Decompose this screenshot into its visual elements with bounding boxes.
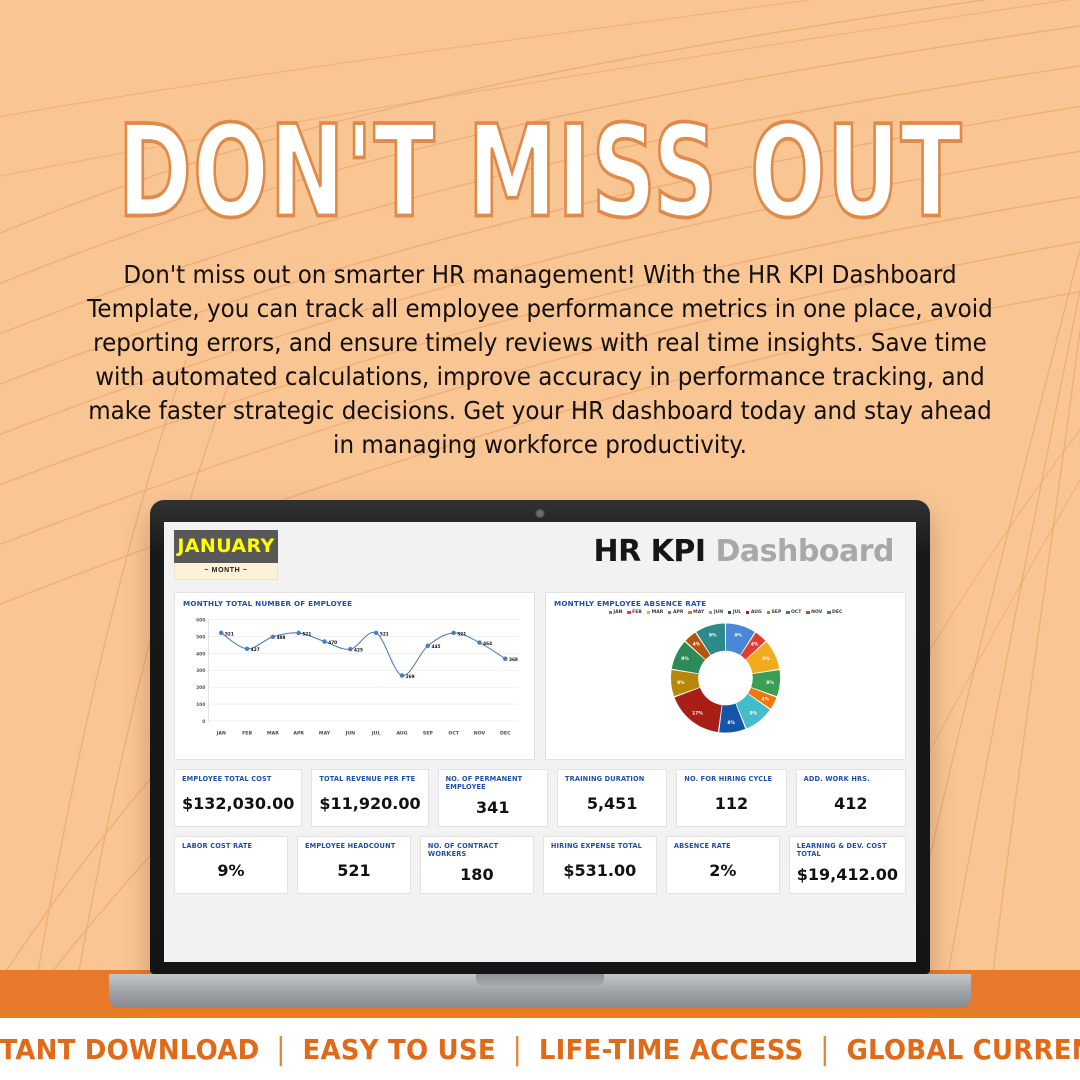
legend-label: APR (673, 610, 683, 615)
legend-item: SEP (767, 610, 782, 615)
dashboard-header: JANUARY ~ MONTH ~ HR KPI Dashboard (174, 530, 906, 586)
svg-text:100: 100 (196, 702, 205, 708)
legend-label: JUN (714, 610, 723, 615)
legend-item: NOV (806, 610, 822, 615)
kpi-row-bottom: LABOR COST RATE9%EMPLOYEE HEADCOUNT521NO… (174, 836, 906, 894)
svg-text:498: 498 (277, 635, 286, 641)
svg-text:FEB: FEB (242, 731, 252, 737)
footer-item: INSTANT DOWNLOAD (0, 1033, 276, 1066)
donut-chart-svg: 9%4%9%8%4%9%8%17%8%9%4%9% (554, 616, 897, 744)
kpi-card-label: HIRING EXPENSE TOTAL (551, 842, 649, 850)
svg-text:JAN: JAN (216, 731, 226, 737)
donut-slice-label: 9% (762, 656, 770, 662)
donut-slice-label: 8% (677, 680, 685, 686)
legend-swatch (806, 611, 809, 614)
donut-chart: 9%4%9%8%4%9%8%17%8%9%4%9% (554, 616, 897, 744)
donut-slice-label: 8% (766, 680, 774, 686)
kpi-card: TOTAL REVENUE PER FTE$11,920.00 (311, 769, 428, 827)
kpi-card-value: 9% (182, 850, 280, 893)
svg-text:600: 600 (196, 618, 205, 624)
kpi-card-value: $531.00 (551, 850, 649, 893)
footer-divider-rule (0, 1009, 1080, 1018)
kpi-card: HIRING EXPENSE TOTAL$531.00 (543, 836, 657, 894)
headline-container: DON'T MISS OUT (0, 108, 1080, 212)
page-title: DON'T MISS OUT (118, 108, 963, 235)
dashboard-title-primary: HR KPI (594, 534, 706, 569)
laptop-screen: JANUARY ~ MONTH ~ HR KPI Dashboard MONTH… (164, 522, 916, 962)
kpi-card-label: TOTAL REVENUE PER FTE (319, 775, 420, 783)
kpi-card-value: 112 (684, 783, 778, 826)
legend-swatch (709, 611, 712, 614)
laptop-mockup: JANUARY ~ MONTH ~ HR KPI Dashboard MONTH… (150, 500, 930, 1008)
kpi-card-label: LEARNING & DEV. COST TOTAL (797, 842, 898, 858)
legend-item: MAY (688, 610, 704, 615)
svg-text:OCT: OCT (448, 731, 459, 737)
legend-label: JUL (733, 610, 741, 615)
kpi-card-value: 2% (674, 850, 772, 893)
legend-label: AUG (751, 610, 762, 615)
svg-text:JUN: JUN (345, 731, 356, 737)
charts-row: MONTHLY TOTAL NUMBER OF EMPLOYEE 0100200… (174, 592, 906, 760)
legend-swatch (786, 611, 789, 614)
svg-text:JUL: JUL (371, 731, 381, 737)
svg-text:MAR: MAR (267, 731, 279, 737)
donut-slice-label: 17% (692, 711, 703, 717)
donut-chart-panel: MONTHLY EMPLOYEE ABSENCE RATE JANFEBMARA… (545, 592, 906, 760)
svg-text:425: 425 (354, 647, 363, 653)
line-chart-svg: 0100200300400500600521JAN427FEB498MAR521… (183, 610, 526, 750)
legend-swatch (627, 611, 630, 614)
donut-slice-label: 8% (727, 720, 735, 726)
legend-swatch (609, 611, 612, 614)
legend-label: JAN (613, 610, 622, 615)
svg-text:MAY: MAY (319, 731, 331, 737)
kpi-card-label: NO. OF PERMANENT EMPLOYEE (446, 775, 540, 791)
kpi-card-value: 521 (305, 850, 403, 893)
svg-text:427: 427 (251, 647, 260, 653)
kpi-card-value: 5,451 (565, 783, 659, 826)
kpi-card: NO. OF PERMANENT EMPLOYEE341 (438, 769, 548, 827)
svg-text:NOV: NOV (474, 731, 486, 737)
kpi-card: LEARNING & DEV. COST TOTAL$19,412.00 (789, 836, 906, 894)
legend-swatch (647, 611, 650, 614)
donut-slice-label: 4% (693, 642, 701, 648)
legend-item: MAR (647, 610, 663, 615)
legend-item: AUG (746, 610, 762, 615)
dashboard-title-secondary: Dashboard (716, 534, 894, 569)
line-chart-panel: MONTHLY TOTAL NUMBER OF EMPLOYEE 0100200… (174, 592, 535, 760)
legend-item: DEC (827, 610, 842, 615)
donut-slice-label: 4% (751, 642, 759, 648)
svg-text:521: 521 (225, 631, 234, 637)
kpi-row-top: EMPLOYEE TOTAL COST$132,030.00TOTAL REVE… (174, 769, 906, 827)
kpi-card: EMPLOYEE HEADCOUNT521 (297, 836, 411, 894)
dashboard-title: HR KPI Dashboard (594, 530, 906, 569)
line-chart: 0100200300400500600521JAN427FEB498MAR521… (183, 610, 526, 756)
legend-item: JAN (609, 610, 623, 615)
legend-swatch (827, 611, 830, 614)
legend-swatch (746, 611, 749, 614)
kpi-card: NO. FOR HIRING CYCLE112 (676, 769, 786, 827)
kpi-card-label: TRAINING DURATION (565, 775, 659, 783)
kpi-card-value: $132,030.00 (182, 783, 294, 826)
svg-text:521: 521 (380, 631, 389, 637)
kpi-card-label: ABSENCE RATE (674, 842, 772, 850)
month-name-label: JANUARY (174, 530, 278, 563)
kpi-card: LABOR COST RATE9% (174, 836, 288, 894)
svg-text:521: 521 (457, 631, 466, 637)
legend-label: MAR (652, 610, 664, 615)
laptop-notch (476, 974, 604, 987)
svg-text:400: 400 (196, 651, 205, 657)
legend-swatch (767, 611, 770, 614)
legend-label: SEP (772, 610, 782, 615)
svg-text:DEC: DEC (500, 731, 511, 737)
footer-separator: | (512, 1032, 522, 1067)
legend-item: JUN (709, 610, 723, 615)
kpi-card-value: 341 (446, 791, 540, 826)
svg-text:445: 445 (432, 644, 441, 650)
footer-separator: | (820, 1032, 830, 1067)
kpi-card-label: ADD. WORK HRS. (804, 775, 898, 783)
donut-slice (675, 688, 722, 732)
svg-text:APR: APR (293, 731, 304, 737)
kpi-card: ABSENCE RATE2% (666, 836, 780, 894)
legend-label: NOV (811, 610, 822, 615)
kpi-card-label: EMPLOYEE HEADCOUNT (305, 842, 403, 850)
donut-legend: JANFEBMARAPRMAYJUNJULAUGSEPOCTNOVDEC (554, 610, 897, 615)
kpi-card-value: $19,412.00 (797, 858, 898, 893)
footer-item: LIFE-TIME ACCESS (522, 1033, 820, 1066)
legend-item: JUL (728, 610, 741, 615)
footer-banner: INSTANT DOWNLOAD|EASY TO USE|LIFE-TIME A… (0, 1018, 1080, 1080)
line-chart-title: MONTHLY TOTAL NUMBER OF EMPLOYEE (183, 599, 526, 608)
svg-text:AUG: AUG (396, 731, 407, 737)
kpi-card-label: EMPLOYEE TOTAL COST (182, 775, 294, 783)
footer-item: EASY TO USE (285, 1033, 512, 1066)
donut-slice-label: 4% (761, 696, 769, 702)
kpi-card-label: NO. FOR HIRING CYCLE (684, 775, 778, 783)
legend-label: DEC (832, 610, 842, 615)
svg-text:368: 368 (509, 657, 518, 663)
laptop-base (109, 974, 971, 1008)
svg-text:300: 300 (196, 668, 205, 674)
legend-label: OCT (791, 610, 801, 615)
laptop-lid: JANUARY ~ MONTH ~ HR KPI Dashboard MONTH… (150, 500, 930, 974)
kpi-card-label: LABOR COST RATE (182, 842, 280, 850)
svg-text:500: 500 (196, 634, 205, 640)
svg-text:464: 464 (483, 641, 492, 647)
donut-chart-title: MONTHLY EMPLOYEE ABSENCE RATE (554, 599, 897, 608)
svg-text:200: 200 (196, 685, 205, 691)
legend-item: OCT (786, 610, 801, 615)
legend-swatch (668, 611, 671, 614)
svg-text:470: 470 (328, 640, 337, 646)
donut-slice-label: 9% (734, 633, 742, 639)
legend-swatch (728, 611, 731, 614)
legend-label: MAY (693, 610, 704, 615)
kpi-card: NO. OF CONTRACT WORKERS180 (420, 836, 534, 894)
hr-kpi-dashboard: JANUARY ~ MONTH ~ HR KPI Dashboard MONTH… (164, 522, 916, 962)
svg-text:SEP: SEP (423, 731, 434, 737)
kpi-card-label: NO. OF CONTRACT WORKERS (428, 842, 526, 858)
legend-label: FEB (632, 610, 642, 615)
month-selector[interactable]: JANUARY ~ MONTH ~ (174, 530, 278, 580)
footer-item: GLOBAL CURRENCY (829, 1033, 1080, 1066)
webcam-icon (536, 509, 545, 518)
svg-text:0: 0 (202, 719, 205, 725)
legend-swatch (688, 611, 691, 614)
month-sub-label: ~ MONTH ~ (174, 563, 278, 580)
svg-text:521: 521 (302, 631, 311, 637)
kpi-card-value: 180 (428, 858, 526, 893)
kpi-card: ADD. WORK HRS.412 (796, 769, 906, 827)
legend-item: APR (668, 610, 683, 615)
legend-item: FEB (627, 610, 641, 615)
donut-slice-label: 9% (709, 633, 717, 639)
footer-separator: | (276, 1032, 286, 1067)
kpi-card-value: 412 (804, 783, 898, 826)
kpi-card: EMPLOYEE TOTAL COST$132,030.00 (174, 769, 302, 827)
svg-text:269: 269 (406, 674, 415, 680)
donut-slice-label: 9% (750, 711, 758, 717)
footer-items: INSTANT DOWNLOAD|EASY TO USE|LIFE-TIME A… (0, 1032, 1080, 1067)
kpi-card: TRAINING DURATION5,451 (557, 769, 667, 827)
promo-paragraph: Don't miss out on smarter HR management!… (87, 258, 993, 462)
donut-slice-label: 9% (681, 656, 689, 662)
kpi-card-value: $11,920.00 (319, 783, 420, 826)
